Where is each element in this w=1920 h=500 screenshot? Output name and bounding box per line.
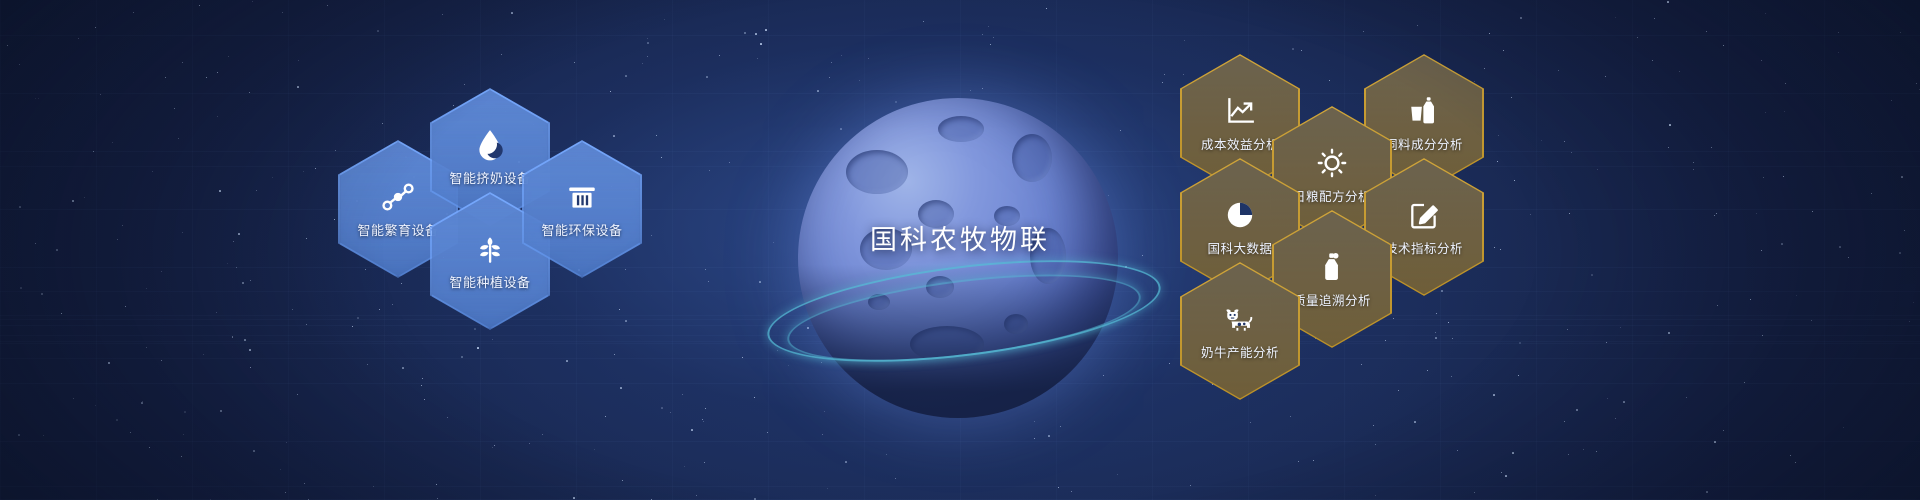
- hex-label: 质量追溯分析: [1293, 290, 1371, 309]
- center-planet: 国科农牧物联: [770, 88, 1150, 388]
- hex-label: 奶牛产能分析: [1201, 342, 1279, 361]
- trash-bin-icon: [565, 180, 599, 214]
- page-title: 国科农牧物联: [770, 218, 1150, 257]
- nodes-network-icon: [381, 180, 415, 214]
- hex-label: 日粮配方分析: [1293, 186, 1371, 205]
- hex-label: 智能种植设备: [449, 272, 530, 291]
- hex-label: 智能环保设备: [541, 220, 622, 239]
- hex-label: 技术指标分析: [1385, 238, 1463, 257]
- line-chart-icon: [1223, 94, 1257, 128]
- hex-label: 国科大数据: [1207, 238, 1272, 257]
- hex-label: 智能挤奶设备: [449, 168, 530, 187]
- water-drop-icon: [473, 128, 507, 162]
- hex-label: 成本效益分析: [1201, 134, 1279, 153]
- milk-bottle-glass-icon: [1407, 94, 1441, 128]
- sun-icon: [1315, 146, 1349, 180]
- cow-icon: [1223, 302, 1257, 336]
- hero-banner: 智能繁育设备 智能挤奶设备: [0, 0, 1920, 500]
- plant-sprout-icon: [473, 232, 507, 266]
- edit-document-icon: [1407, 198, 1441, 232]
- planet-sphere: [798, 98, 1118, 418]
- hex-label: 饲料成分分析: [1385, 134, 1463, 153]
- hex-label: 智能繁育设备: [357, 220, 438, 239]
- pie-chart-icon: [1223, 198, 1257, 232]
- milk-bottle-icon: [1315, 250, 1349, 284]
